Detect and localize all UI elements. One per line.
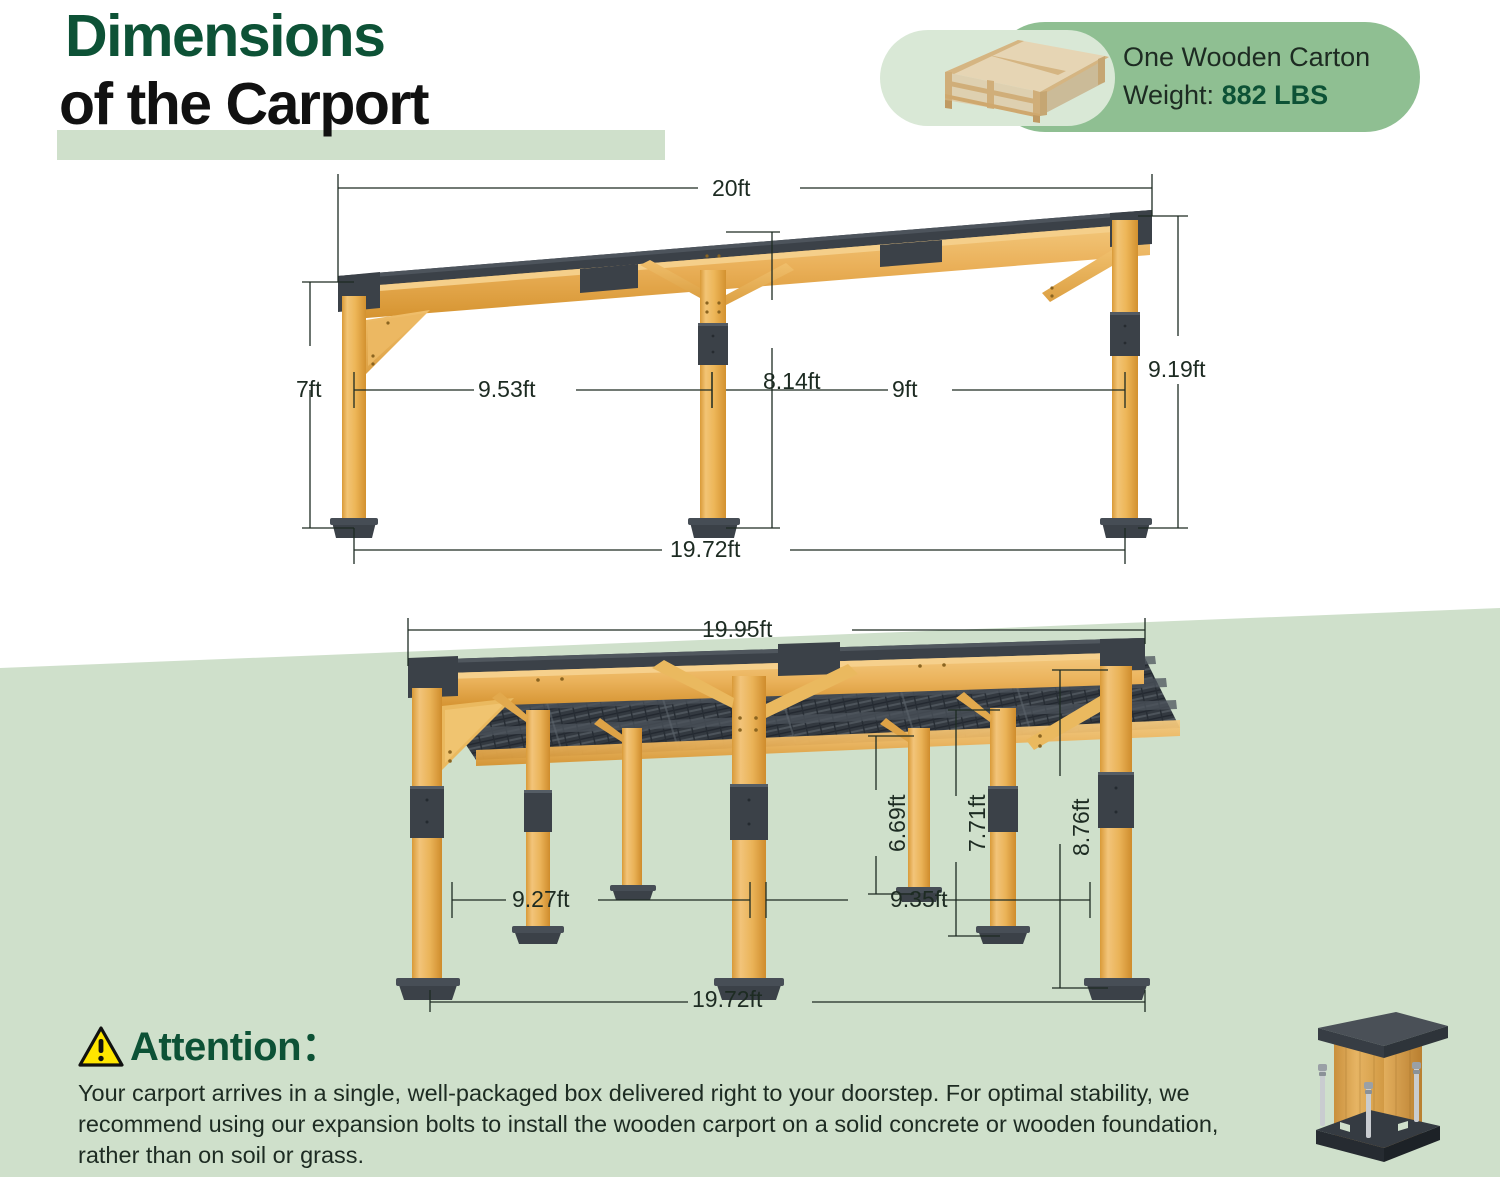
dim-label-inner-post-height: 6.69ft [884,794,910,852]
warning-triangle-icon [78,1026,124,1068]
title-line-secondary: of the Carport [59,70,757,138]
attention-body-text: Your carport arrives in a single, well-p… [78,1078,1278,1171]
post-base-expansion-bolt-detail [1288,1012,1460,1174]
dim-label-right-post-height: 9.19ft [1148,356,1206,382]
dim-label-rear-bay-width: 9.35ft [890,886,948,912]
dim-label-middle-post-height-bottom: 7.71ft [964,794,990,852]
page-root: Dimensions of the Carport [0,0,1500,1177]
dim-label-outer-post-height: 8.76ft [1068,798,1094,856]
badge-text-block: One Wooden Carton Weight: 882 LBS [1123,38,1413,114]
page-title: Dimensions of the Carport [57,2,757,138]
wooden-crate-icon [890,30,1120,130]
weight-prefix: Weight: [1123,80,1222,110]
dim-label-left-post-height: 7ft [296,376,322,402]
badge-carton-label: One Wooden Carton [1123,38,1413,76]
dim-label-right-bay-width: 9ft [892,376,918,402]
dim-label-overall-base-width-bottom: 19.72ft [692,986,762,1012]
dim-label-overall-base-width-top: 19.72ft [670,536,740,562]
attention-block: Attention： Your carport arrives in a sin… [78,1022,1408,1171]
attention-heading-row: Attention： [78,1022,1408,1072]
badge-weight-label: Weight: 882 LBS [1123,76,1413,114]
carton-weight-badge: One Wooden Carton Weight: 882 LBS [880,22,1420,132]
dim-label-middle-post-height: 8.14ft [763,368,821,394]
dim-label-front-bay-width: 9.27ft [512,886,570,912]
attention-title: Attention： [130,1025,341,1069]
carport-side-elevation [280,160,1200,580]
dim-label-roof-span-bottom: 19.95ft [702,616,772,642]
weight-value: 882 LBS [1222,80,1329,110]
title-line-primary: Dimensions [65,2,757,70]
carport-perspective-view [300,600,1200,1020]
dim-label-left-bay-width: 9.53ft [478,376,536,402]
dim-label-roof-span-top: 20ft [712,175,750,201]
